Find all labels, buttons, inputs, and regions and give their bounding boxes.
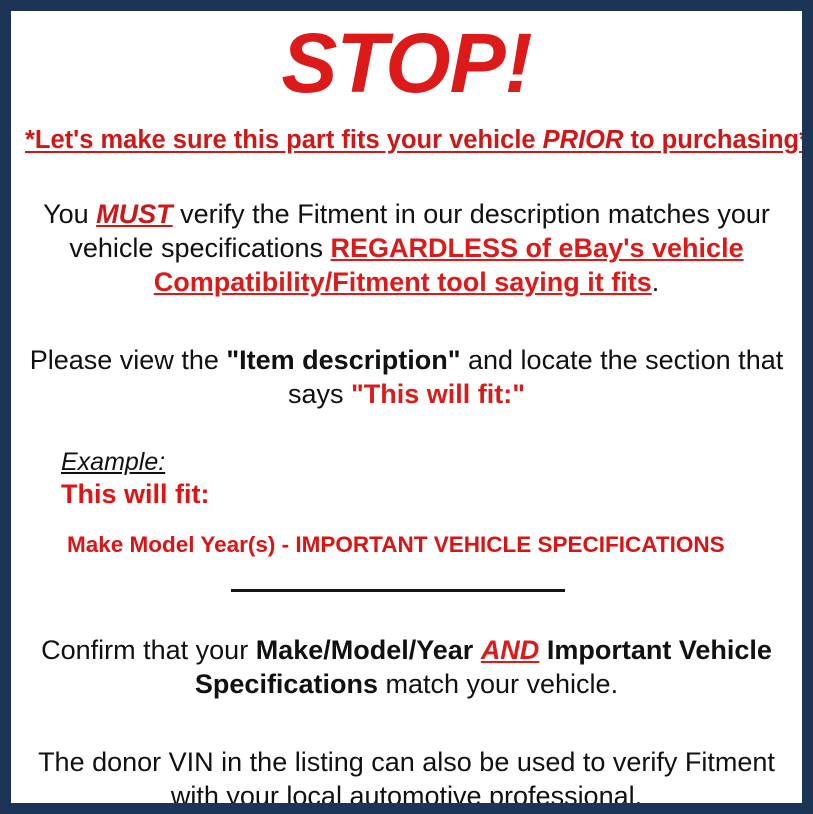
confirm-part-2 xyxy=(473,635,481,665)
fitment-notice-card: STOP! *Let's make sure this part fits yo… xyxy=(0,0,813,814)
confirm-part-4: match your vehicle. xyxy=(378,669,618,699)
confirm-paragraph: Confirm that your Make/Model/Year AND Im… xyxy=(25,633,788,701)
horizontal-rule xyxy=(231,589,565,592)
must-emphasis: MUST xyxy=(96,199,173,229)
example-label-row: Example: xyxy=(61,449,788,477)
must-verify-paragraph: You MUST verify the Fitment in our descr… xyxy=(25,197,788,299)
confirm-part-1: Confirm that your xyxy=(41,635,256,665)
tagline-tail: to purchasing* xyxy=(623,126,809,154)
notice-content: STOP! *Let's make sure this part fits yo… xyxy=(11,11,802,803)
donor-vin-paragraph: The donor VIN in the listing can also be… xyxy=(25,745,788,813)
confirm-part-3 xyxy=(539,635,547,665)
example-fit-heading: This will fit: xyxy=(61,480,788,510)
item-description-paragraph: Please view the "Item description" and l… xyxy=(25,343,788,411)
must-part-1: You xyxy=(43,199,96,229)
and-emphasis: AND xyxy=(481,635,540,665)
tagline: *Let's make sure this part fits your veh… xyxy=(25,125,788,156)
must-part-3: . xyxy=(652,267,660,297)
item-description-emphasis: "Item description" xyxy=(226,345,460,375)
tagline-emphasis-prior: PRIOR xyxy=(543,126,624,154)
make-model-year-emphasis: Make/Model/Year xyxy=(256,635,474,665)
example-label: Example: xyxy=(61,449,165,477)
example-block: Example: This will fit: Make Model Year(… xyxy=(25,449,788,557)
divider-wrap xyxy=(25,579,788,597)
view-part-1: Please view the xyxy=(30,345,227,375)
example-spec-line: Make Model Year(s) - IMPORTANT VEHICLE S… xyxy=(61,532,788,558)
this-will-fit-emphasis: "This will fit:" xyxy=(351,379,525,409)
page-title: STOP! xyxy=(25,11,788,107)
tagline-lead: *Let's make sure this part fits your veh… xyxy=(25,126,543,154)
